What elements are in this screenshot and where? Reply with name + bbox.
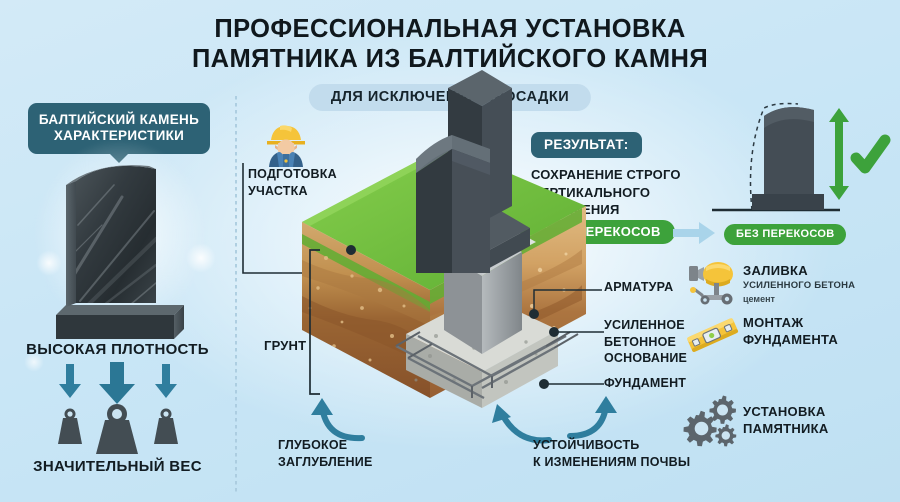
spirit-level-icon: [686, 315, 740, 357]
weight-label: ЗНАЧИТЕЛЬНЫЙ ВЕС: [0, 458, 235, 475]
label-deep-embedding: ГЛУБОКОЕ ЗАГЛУБЛЕНИЕ: [278, 437, 396, 470]
stable-line-2: К ИЗМЕНЕНИЯМ ПОЧВЫ: [533, 454, 693, 471]
step-mount-foundation: МОНТАЖ ФУНДАМЕНТА: [743, 315, 838, 349]
cement-mixer-icon: [688, 259, 738, 305]
vertical-monument-demo: [706, 100, 884, 220]
label-armatura: АРМАТУРА: [604, 279, 673, 296]
check-icon: [856, 140, 885, 168]
soil-bracket: [306, 248, 324, 396]
badge-line-1: БАЛТИЙСКИЙ КАМЕНЬ: [34, 112, 204, 128]
panel-divider: [235, 96, 237, 492]
step-pour-concrete: ЗАЛИВКА УСИЛЕННОГО БЕТОНА цемент: [743, 263, 855, 305]
step-install-line-2: ПАМЯТНИКА: [743, 421, 829, 438]
result-arrow-icon: [673, 222, 715, 244]
weight-icon: [154, 409, 178, 445]
label-foundation: ФУНДАМЕНТ: [604, 375, 686, 392]
down-arrow-icon: [59, 364, 81, 398]
weight-icon: [58, 409, 82, 445]
title-line-2: ПАМЯТНИКА ИЗ БАЛТИЙСКОГО КАМНЯ: [0, 44, 900, 74]
down-arrow-icon: [99, 362, 135, 404]
base-line-3: ОСНОВАНИЕ: [604, 350, 696, 367]
monument-stele: [406, 133, 526, 273]
deep-line-2: ЗАГЛУБЛЕНИЕ: [278, 454, 396, 471]
base-line-1: УСИЛЕННОЕ: [604, 317, 696, 334]
step-mount-line-1: МОНТАЖ: [743, 315, 838, 332]
vertical-arrow-icon: [829, 108, 849, 200]
granite-monument-illustration: [44, 155, 204, 345]
vertical-demo-pill: БЕЗ ПЕРЕКОСОВ: [724, 224, 846, 245]
infographic-root: ПРОФЕССИОНАЛЬНАЯ УСТАНОВКА ПАМЯТНИКА ИЗ …: [0, 0, 900, 502]
step-mount-line-2: ФУНДАМЕНТА: [743, 332, 838, 349]
title-line-1: ПРОФЕССИОНАЛЬНАЯ УСТАНОВКА: [214, 15, 685, 43]
page-title: ПРОФЕССИОНАЛЬНАЯ УСТАНОВКА ПАМЯТНИКА ИЗ …: [0, 14, 900, 74]
weight-icon: [96, 404, 138, 454]
gears-icon: [686, 395, 740, 445]
step-pour-subtitle: УСИЛЕННОГО БЕТОНА: [743, 280, 855, 293]
down-arrow-icon: [155, 364, 177, 398]
label-reinforced-base: УСИЛЕННОЕ БЕТОННОЕ ОСНОВАНИЕ: [604, 317, 696, 367]
density-label: ВЫСОКАЯ ПЛОТНОСТЬ: [0, 341, 235, 358]
soil-stability-arrow-icon: [566, 396, 614, 440]
soil-label: ГРУНТ: [264, 337, 306, 354]
step-install-line-1: УСТАНОВКА: [743, 404, 829, 421]
diagram-connectors: [492, 272, 610, 400]
step-pour-detail: цемент: [743, 293, 855, 305]
grass-connector-dot: [344, 243, 358, 257]
label-soil-stability: УСТОЙЧИВОСТЬ К ИЗМЕНЕНИЯМ ПОЧВЫ: [533, 437, 693, 470]
stable-line-1: УСТОЙЧИВОСТЬ: [533, 437, 693, 454]
deep-line-1: ГЛУБОКОЕ: [278, 437, 396, 454]
base-line-2: БЕТОННОЕ: [604, 334, 696, 351]
step-install-monument: УСТАНОВКА ПАМЯТНИКА: [743, 404, 829, 438]
weight-icons-group: [38, 362, 198, 454]
step-pour-title: ЗАЛИВКА: [743, 263, 855, 280]
